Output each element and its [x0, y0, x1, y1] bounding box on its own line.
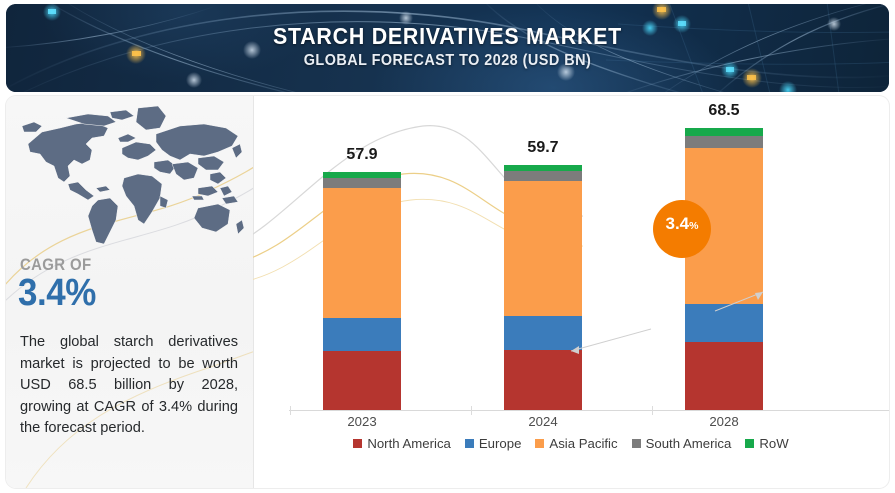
infographic-root: STARCH DERIVATIVES MARKET GLOBAL FORECAS…: [0, 0, 895, 493]
cagr-callout-percent: %: [689, 220, 698, 232]
x-axis-tick: [471, 406, 472, 415]
bar-total-label-2023: 57.9: [307, 146, 417, 164]
legend-item-south-america[interactable]: South America: [632, 436, 732, 451]
bar-segment-row[interactable]: [685, 128, 763, 135]
bar-total-label-2024: 59.7: [488, 139, 598, 157]
bar-segment-north-america[interactable]: [504, 350, 582, 410]
bar-segment-south-america[interactable]: [685, 136, 763, 148]
cagr-callout-number: 3.4: [666, 214, 690, 234]
legend-label: Asia Pacific: [549, 436, 617, 451]
summary-panel: CAGR OF 3.4% The global starch derivativ…: [6, 96, 254, 488]
legend-label: South America: [646, 436, 732, 451]
summary-description: The global starch derivatives market is …: [20, 332, 238, 440]
bar-segment-europe[interactable]: [323, 318, 401, 351]
chart-region: 57.9202359.7202468.52028 3.4 % North Ame…: [253, 96, 889, 488]
world-map-icon: [12, 104, 248, 254]
bar-segment-north-america[interactable]: [323, 351, 401, 410]
page-subtitle: GLOBAL FORECAST TO 2028 (USD BN): [37, 52, 858, 70]
bar-segment-asia-pacific[interactable]: [323, 188, 401, 318]
content-card: CAGR OF 3.4% The global starch derivativ…: [6, 96, 889, 488]
legend-swatch-icon: [465, 439, 474, 448]
chart-legend: North AmericaEuropeAsia PacificSouth Ame…: [253, 436, 889, 451]
legend-swatch-icon: [535, 439, 544, 448]
x-axis-label-2024: 2024: [488, 414, 598, 429]
bar-segment-north-america[interactable]: [685, 342, 763, 410]
legend-swatch-icon: [745, 439, 754, 448]
cagr-value: 3.4%: [18, 272, 96, 315]
legend-item-europe[interactable]: Europe: [465, 436, 522, 451]
x-axis-label-2023: 2023: [307, 414, 417, 429]
legend-label: North America: [367, 436, 451, 451]
legend-swatch-icon: [632, 439, 641, 448]
bar-segment-europe[interactable]: [504, 316, 582, 350]
bar-2028[interactable]: [685, 128, 763, 410]
x-axis-label-2028: 2028: [669, 414, 779, 429]
page-title: STARCH DERIVATIVES MARKET: [37, 24, 858, 49]
x-axis-tick: [290, 406, 291, 415]
bar-2023[interactable]: [323, 172, 401, 410]
legend-label: Europe: [479, 436, 522, 451]
legend-item-asia-pacific[interactable]: Asia Pacific: [535, 436, 617, 451]
cagr-callout-bubble: 3.4 %: [653, 200, 711, 258]
x-axis-line: [289, 410, 889, 411]
bar-2024[interactable]: [504, 165, 582, 410]
x-axis-tick: [652, 406, 653, 415]
legend-item-north-america[interactable]: North America: [353, 436, 451, 451]
header-banner: STARCH DERIVATIVES MARKET GLOBAL FORECAS…: [6, 4, 889, 92]
bar-total-label-2028: 68.5: [669, 102, 779, 120]
bar-segment-asia-pacific[interactable]: [504, 181, 582, 316]
bar-segment-europe[interactable]: [685, 304, 763, 342]
bar-segment-south-america[interactable]: [504, 171, 582, 181]
bar-segment-south-america[interactable]: [323, 178, 401, 188]
legend-item-row[interactable]: RoW: [745, 436, 788, 451]
legend-swatch-icon: [353, 439, 362, 448]
legend-label: RoW: [759, 436, 788, 451]
